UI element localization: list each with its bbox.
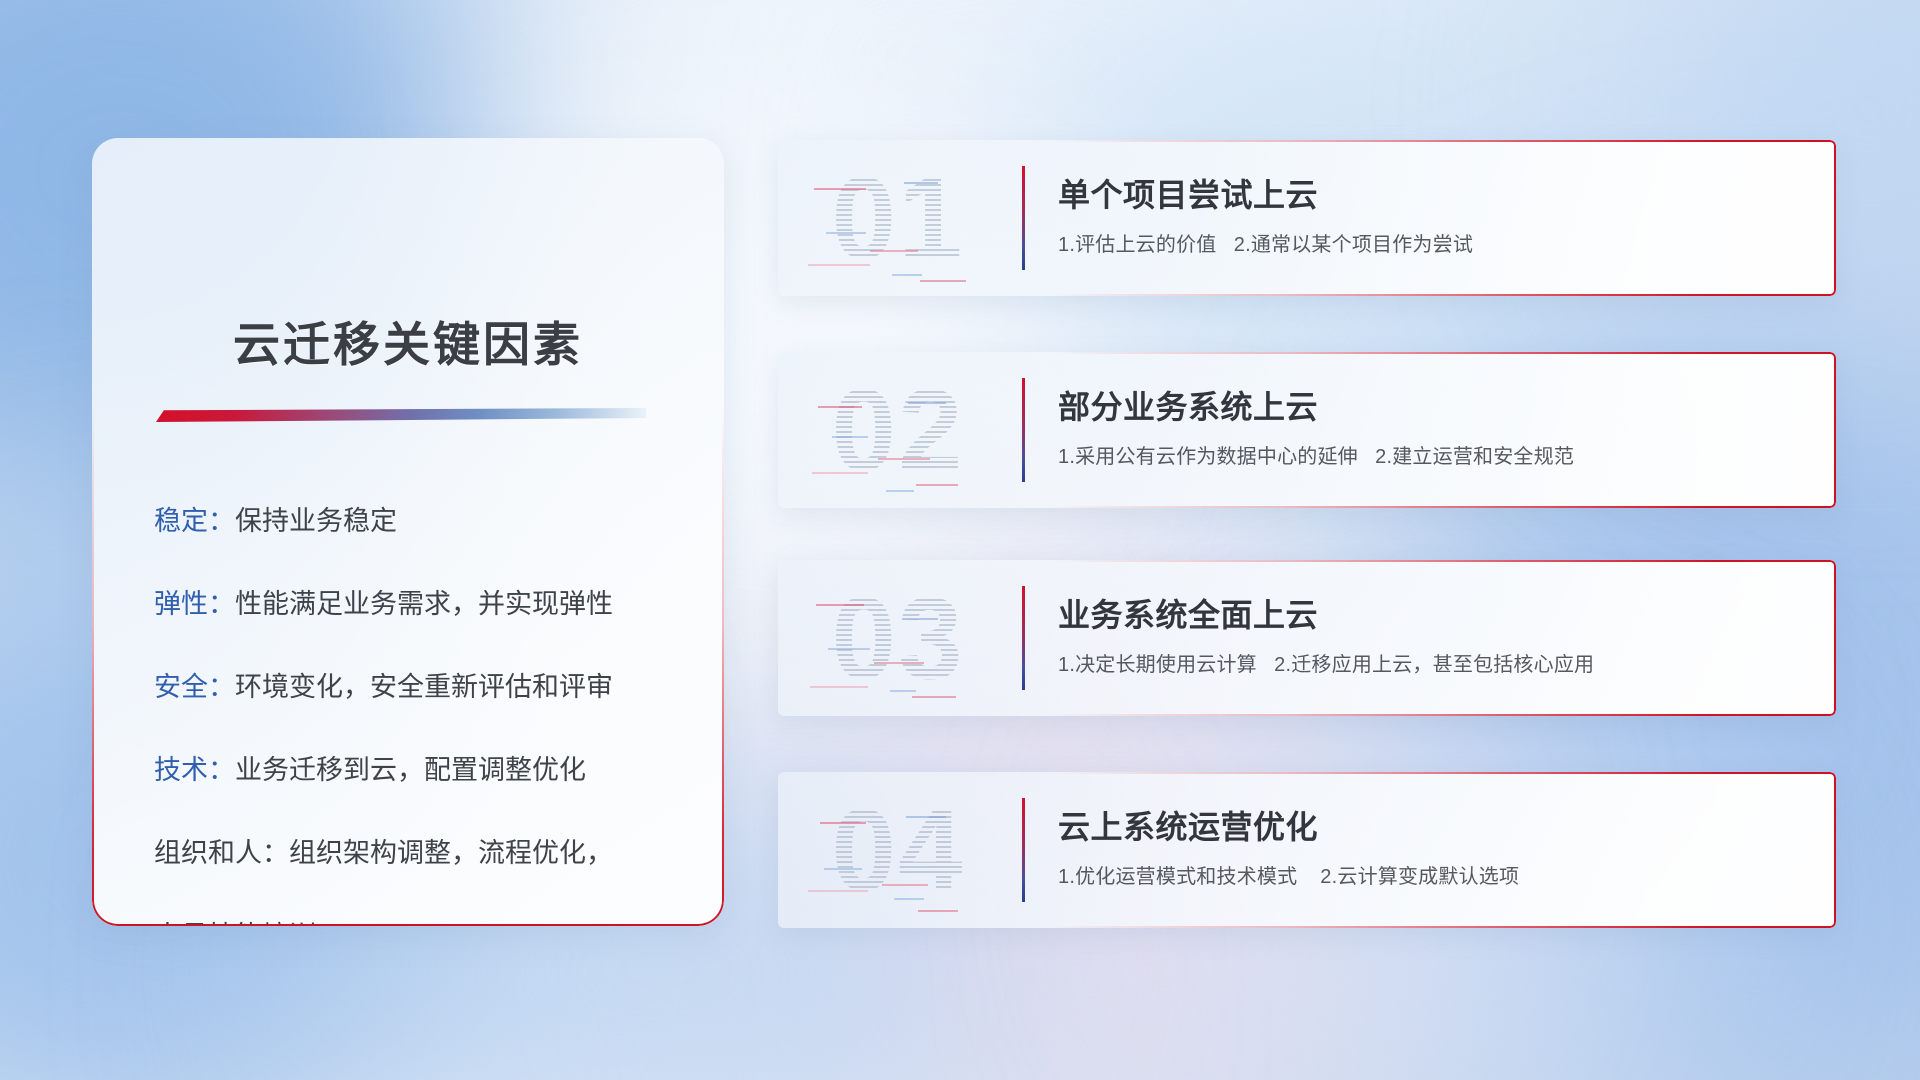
stage-number-04: 04 [808, 786, 988, 914]
factor-text: 人员技能培训 [154, 921, 316, 926]
key-factors-panel: 云迁移关键因素 稳定：保持业务稳定 弹性：性能满足业务需求，并实现弹性 安全：环… [92, 138, 724, 926]
stage-title: 单个项目尝试上云 [1058, 170, 1318, 216]
page-title: 云迁移关键因素 [92, 306, 724, 375]
factor-text: 环境变化，安全重新评估和评审 [235, 672, 613, 702]
factor-label: 稳定： [154, 506, 235, 536]
factor-text: 业务迁移到云，配置调整优化 [235, 755, 586, 785]
card-divider-accent [1022, 798, 1025, 902]
stage-number-01: 01 [808, 154, 988, 282]
factor-label: 组织和人： [154, 838, 289, 868]
factor-text: 保持业务稳定 [235, 506, 397, 536]
factor-item-elasticity: 弹性：性能满足业务需求，并实现弹性 [154, 591, 684, 618]
factor-text: 性能满足业务需求，并实现弹性 [235, 589, 613, 619]
stage-number-03: 03 [808, 574, 988, 702]
factor-item-technology: 技术：业务迁移到云，配置调整优化 [154, 757, 684, 784]
factor-item-organization: 组织和人：组织架构调整，流程优化， [154, 840, 684, 867]
stage-title: 云上系统运营优化 [1058, 802, 1318, 848]
title-underline-accent [156, 408, 646, 422]
factor-label: 弹性： [154, 589, 235, 619]
stage-card-04[interactable]: 04 云上系统运营优化 1.优化运营模式和技术模式 2.云计算变成默认选项 [778, 772, 1836, 928]
slide-canvas: 云迁移关键因素 稳定：保持业务稳定 弹性：性能满足业务需求，并实现弹性 安全：环… [0, 0, 1920, 1080]
card-divider-accent [1022, 586, 1025, 690]
card-divider-accent [1022, 378, 1025, 482]
stage-card-01[interactable]: 01 单个项目尝试上云 1.评估上云的价值 2.通常以某个项目作为尝试 [778, 140, 1836, 296]
stage-description: 1.决定长期使用云计算 2.迁移应用上云，甚至包括核心应用 [1058, 648, 1594, 677]
factor-item-security: 安全：环境变化，安全重新评估和评审 [154, 674, 684, 701]
stage-card-03[interactable]: 03 业务系统全面上云 1.决定长期使用云计算 2.迁移应用上云，甚至包括核心应… [778, 560, 1836, 716]
factor-label: 安全： [154, 672, 235, 702]
stage-title: 部分业务系统上云 [1058, 382, 1318, 428]
factor-text: 组织架构调整，流程优化， [289, 838, 613, 868]
stage-description: 1.采用公有云作为数据中心的延伸 2.建立运营和安全规范 [1058, 440, 1574, 469]
factor-label: 技术： [154, 755, 235, 785]
factor-item-stability: 稳定：保持业务稳定 [154, 508, 684, 535]
stage-title: 业务系统全面上云 [1058, 590, 1318, 636]
stage-description: 1.优化运营模式和技术模式 2.云计算变成默认选项 [1058, 860, 1519, 889]
stage-card-02[interactable]: 02 部分业务系统上云 1.采用公有云作为数据中心的延伸 2.建立运营和安全规范 [778, 352, 1836, 508]
stage-number-02: 02 [808, 366, 988, 494]
card-divider-accent [1022, 166, 1025, 270]
factor-item-organization-line2: 人员技能培训 [154, 923, 684, 926]
stage-description: 1.评估上云的价值 2.通常以某个项目作为尝试 [1058, 228, 1473, 257]
key-factors-list: 稳定：保持业务稳定 弹性：性能满足业务需求，并实现弹性 安全：环境变化，安全重新… [154, 508, 684, 926]
